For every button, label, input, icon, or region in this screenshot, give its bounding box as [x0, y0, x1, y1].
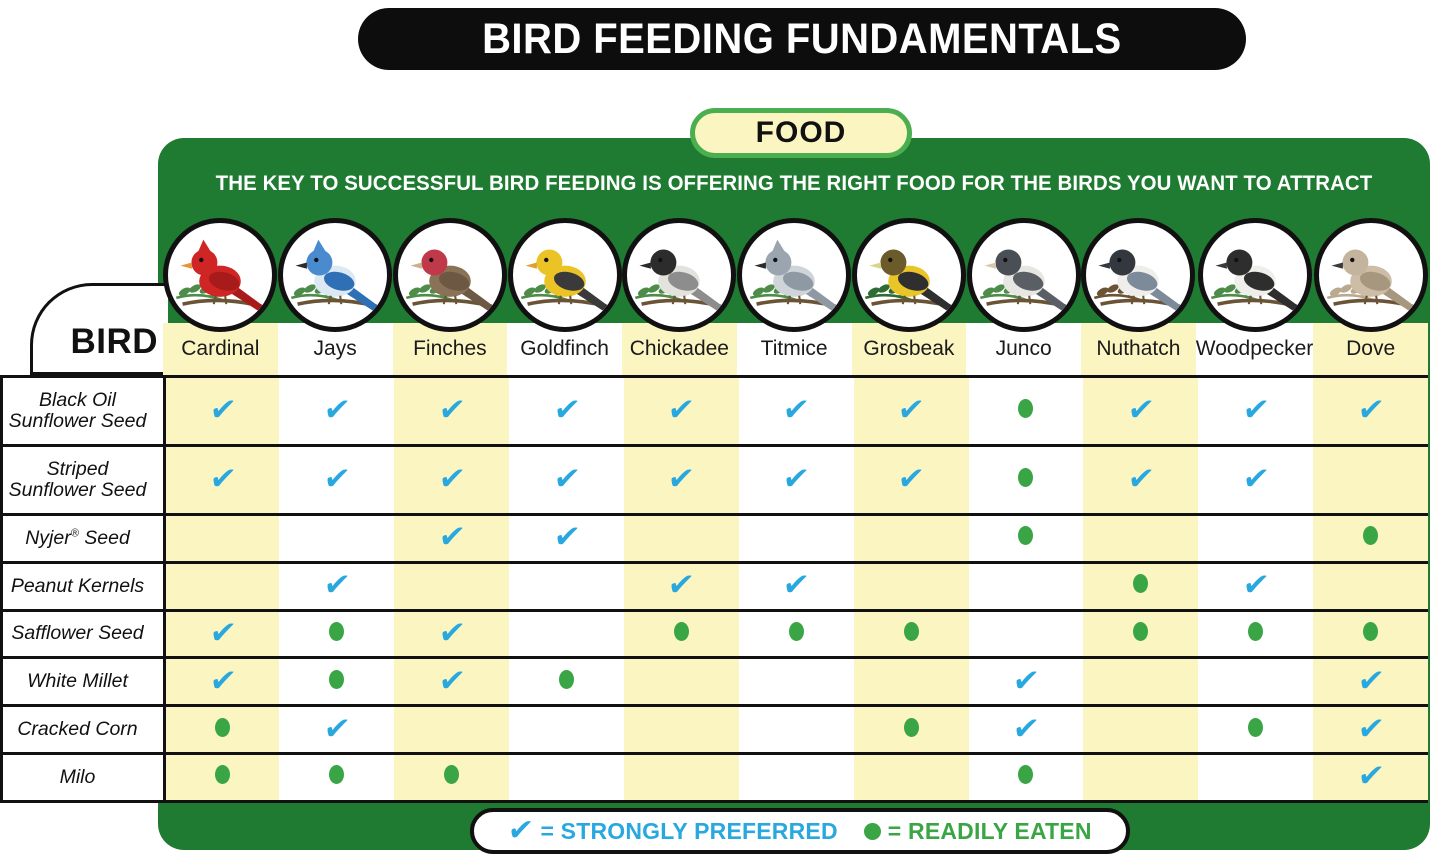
dot-icon — [1018, 468, 1033, 487]
check-icon: ✔ — [208, 397, 237, 423]
dot-icon — [1248, 718, 1263, 737]
empty-mark — [911, 541, 912, 542]
dot-icon — [1018, 526, 1033, 545]
cell-white-millet-nuthatch — [1083, 658, 1198, 706]
cell-nyjer-seed-goldfinch: ✔ — [509, 515, 624, 563]
empty-mark — [1140, 541, 1141, 542]
empty-mark — [1140, 780, 1141, 781]
check-icon: ✔ — [322, 397, 351, 423]
cell-black-oil-sunflower-seed-titmice: ✔ — [739, 377, 854, 446]
dot-icon — [1133, 574, 1148, 593]
dot-icon — [1018, 765, 1033, 784]
dot-icon — [215, 765, 230, 784]
empty-mark — [1025, 637, 1026, 638]
legend-label-strongly-preferred: = STRONGLY PREFERRED — [540, 818, 837, 845]
cell-striped-sunflower-seed-finches: ✔ — [394, 446, 509, 515]
empty-mark — [1370, 483, 1371, 484]
cell-nyjer-seed-woodpecker — [1198, 515, 1313, 563]
cell-cracked-corn-finches — [394, 706, 509, 754]
dot-icon — [1363, 526, 1378, 545]
cell-safflower-seed-titmice — [739, 610, 854, 658]
cell-peanut-kernels-finches — [394, 562, 509, 610]
evening-grosbeak-portrait-icon — [852, 218, 966, 332]
check-icon: ✔ — [437, 397, 466, 423]
cell-safflower-seed-grosbeak — [854, 610, 969, 658]
cell-striped-sunflower-seed-nuthatch: ✔ — [1083, 446, 1198, 515]
cell-black-oil-sunflower-seed-jays: ✔ — [279, 377, 394, 446]
cell-milo-junco — [969, 753, 1084, 801]
row-header-label: White Millet — [3, 671, 152, 692]
check-icon: ✔ — [208, 620, 237, 646]
cell-cracked-corn-nuthatch — [1083, 706, 1198, 754]
column-header-dove: Dove — [1313, 218, 1428, 375]
check-icon: ✔ — [437, 668, 466, 694]
dot-icon — [329, 765, 344, 784]
row-header-label: Sunflower Seed — [3, 480, 152, 501]
empty-mark — [1370, 589, 1371, 590]
northern-cardinal-portrait-icon — [163, 218, 277, 332]
empty-mark — [451, 733, 452, 734]
check-icon: ✔ — [552, 397, 581, 423]
axis-label-bird-text: BIRD — [70, 322, 168, 372]
check-icon: ✔ — [322, 716, 351, 742]
dot-icon — [329, 622, 344, 641]
page-title: BIRD FEEDING FUNDAMENTALS — [482, 15, 1122, 64]
empty-mark — [911, 589, 912, 590]
cell-safflower-seed-jays — [279, 610, 394, 658]
axis-label-bird: BIRD — [30, 283, 168, 375]
check-icon: ✔ — [437, 620, 466, 646]
cell-striped-sunflower-seed-titmice: ✔ — [739, 446, 854, 515]
empty-mark — [1140, 685, 1141, 686]
title-banner: BIRD FEEDING FUNDAMENTALS — [358, 8, 1246, 70]
check-icon: ✔ — [1011, 668, 1040, 694]
column-header-nuthatch: Nuthatch — [1081, 218, 1196, 375]
empty-mark — [681, 733, 682, 734]
check-icon: ✔ — [667, 572, 696, 598]
check-icon: ✔ — [1241, 572, 1270, 598]
cell-safflower-seed-finches: ✔ — [394, 610, 509, 658]
legend-item-readily-eaten: = READILY EATEN — [864, 818, 1092, 845]
check-icon: ✔ — [1356, 763, 1385, 789]
row-header-black-oil-sunflower-seed: Black OilSunflower Seed — [2, 377, 165, 446]
table-row: Milo✔ — [2, 753, 1429, 801]
chart-subtitle: THE KEY TO SUCCESSFUL BIRD FEEDING IS OF… — [190, 171, 1398, 196]
dot-icon — [904, 718, 919, 737]
column-header-label: Chickadee — [630, 337, 729, 361]
column-header-label: Cardinal — [181, 337, 259, 361]
downy-woodpecker-portrait-icon — [1198, 218, 1312, 332]
cell-peanut-kernels-dove — [1313, 562, 1428, 610]
dot-icon — [559, 670, 574, 689]
empty-mark — [1140, 733, 1141, 734]
row-header-label: Milo — [3, 767, 152, 788]
cell-cracked-corn-grosbeak — [854, 706, 969, 754]
cell-striped-sunflower-seed-chickadee: ✔ — [624, 446, 739, 515]
dot-icon — [329, 670, 344, 689]
cell-black-oil-sunflower-seed-goldfinch: ✔ — [509, 377, 624, 446]
check-icon: ✔ — [1356, 668, 1385, 694]
dot-icon — [904, 622, 919, 641]
cell-white-millet-junco: ✔ — [969, 658, 1084, 706]
empty-mark — [911, 685, 912, 686]
check-icon: ✔ — [322, 466, 351, 492]
row-header-white-millet: White Millet — [2, 658, 165, 706]
column-header-grosbeak: Grosbeak — [852, 218, 967, 375]
row-header-nyjer-seed: Nyjer® Seed — [2, 515, 165, 563]
cell-milo-chickadee — [624, 753, 739, 801]
empty-mark — [336, 541, 337, 542]
check-icon: ✔ — [782, 397, 811, 423]
check-icon: ✔ — [782, 572, 811, 598]
cell-nyjer-seed-dove — [1313, 515, 1428, 563]
cell-cracked-corn-chickadee — [624, 706, 739, 754]
column-header-finches: Finches — [393, 218, 508, 375]
empty-mark — [566, 733, 567, 734]
check-icon: ✔ — [437, 524, 466, 550]
column-header-label: Woodpecker — [1196, 337, 1314, 361]
table-row: Cracked Corn✔✔✔ — [2, 706, 1429, 754]
cell-cracked-corn-goldfinch — [509, 706, 624, 754]
check-icon: ✔ — [1241, 466, 1270, 492]
section-badge-food: FOOD — [690, 108, 912, 158]
cell-peanut-kernels-woodpecker: ✔ — [1198, 562, 1313, 610]
row-header-cracked-corn: Cracked Corn — [2, 706, 165, 754]
dot-icon — [864, 823, 881, 840]
row-header-label: Striped — [3, 459, 152, 480]
cell-safflower-seed-woodpecker — [1198, 610, 1313, 658]
cell-cracked-corn-junco: ✔ — [969, 706, 1084, 754]
cell-cracked-corn-woodpecker — [1198, 706, 1313, 754]
cell-white-millet-grosbeak — [854, 658, 969, 706]
table-row: Black OilSunflower Seed✔✔✔✔✔✔✔✔✔✔ — [2, 377, 1429, 446]
column-header-label: Goldfinch — [520, 337, 609, 361]
cell-black-oil-sunflower-seed-junco — [969, 377, 1084, 446]
empty-mark — [796, 541, 797, 542]
cell-black-oil-sunflower-seed-woodpecker: ✔ — [1198, 377, 1313, 446]
row-header-label: Nyjer® Seed — [3, 528, 152, 549]
check-icon: ✔ — [896, 397, 925, 423]
cell-cracked-corn-jays: ✔ — [279, 706, 394, 754]
check-icon: ✔ — [1356, 397, 1385, 423]
dot-icon — [215, 718, 230, 737]
cell-safflower-seed-chickadee — [624, 610, 739, 658]
cell-white-millet-dove: ✔ — [1313, 658, 1428, 706]
cell-striped-sunflower-seed-cardinal: ✔ — [165, 446, 280, 515]
check-icon: ✔ — [1126, 466, 1155, 492]
cell-peanut-kernels-grosbeak — [854, 562, 969, 610]
black-capped-chickadee-portrait-icon — [622, 218, 736, 332]
cell-peanut-kernels-chickadee: ✔ — [624, 562, 739, 610]
column-header-label: Nuthatch — [1096, 337, 1180, 361]
column-header-label: Jays — [314, 337, 357, 361]
dot-icon — [674, 622, 689, 641]
empty-mark — [566, 637, 567, 638]
house-finch-portrait-icon — [393, 218, 507, 332]
check-icon: ✔ — [896, 466, 925, 492]
dot-icon — [1248, 622, 1263, 641]
check-icon: ✔ — [322, 572, 351, 598]
check-icon: ✔ — [552, 466, 581, 492]
check-icon: ✔ — [667, 466, 696, 492]
cell-striped-sunflower-seed-jays: ✔ — [279, 446, 394, 515]
cell-nyjer-seed-jays — [279, 515, 394, 563]
empty-mark — [681, 780, 682, 781]
cell-black-oil-sunflower-seed-cardinal: ✔ — [165, 377, 280, 446]
cell-milo-nuthatch — [1083, 753, 1198, 801]
empty-mark — [796, 733, 797, 734]
cell-milo-jays — [279, 753, 394, 801]
cell-white-millet-jays — [279, 658, 394, 706]
empty-mark — [566, 589, 567, 590]
empty-mark — [1255, 541, 1256, 542]
white-breasted-nuthatch-portrait-icon — [1081, 218, 1195, 332]
column-header-label: Grosbeak — [863, 337, 954, 361]
empty-mark — [911, 780, 912, 781]
cell-striped-sunflower-seed-woodpecker: ✔ — [1198, 446, 1313, 515]
cell-white-millet-titmice — [739, 658, 854, 706]
dot-icon — [789, 622, 804, 641]
empty-mark — [222, 541, 223, 542]
cell-milo-grosbeak — [854, 753, 969, 801]
check-icon: ✔ — [208, 668, 237, 694]
section-badge-label: FOOD — [756, 116, 847, 150]
check-icon: ✔ — [1356, 716, 1385, 742]
cell-cracked-corn-cardinal — [165, 706, 280, 754]
check-icon: ✔ — [782, 466, 811, 492]
cell-cracked-corn-titmice — [739, 706, 854, 754]
column-header-cardinal: Cardinal — [163, 218, 278, 375]
row-header-label: Sunflower Seed — [3, 411, 152, 432]
table-row: StripedSunflower Seed✔✔✔✔✔✔✔✔✔ — [2, 446, 1429, 515]
legend-label-readily-eaten: = READILY EATEN — [888, 818, 1092, 845]
cell-peanut-kernels-titmice: ✔ — [739, 562, 854, 610]
cell-black-oil-sunflower-seed-dove: ✔ — [1313, 377, 1428, 446]
empty-mark — [681, 685, 682, 686]
empty-mark — [1255, 685, 1256, 686]
row-header-label: Peanut Kernels — [3, 576, 152, 597]
cell-nyjer-seed-grosbeak — [854, 515, 969, 563]
row-header-peanut-kernels: Peanut Kernels — [2, 562, 165, 610]
empty-mark — [566, 780, 567, 781]
cell-cracked-corn-dove: ✔ — [1313, 706, 1428, 754]
american-goldfinch-portrait-icon — [508, 218, 622, 332]
column-header-chickadee: Chickadee — [622, 218, 737, 375]
table-row: White Millet✔✔✔✔ — [2, 658, 1429, 706]
cell-safflower-seed-cardinal: ✔ — [165, 610, 280, 658]
cell-striped-sunflower-seed-goldfinch: ✔ — [509, 446, 624, 515]
dot-icon — [1133, 622, 1148, 641]
empty-mark — [1025, 589, 1026, 590]
dot-icon — [444, 765, 459, 784]
cell-white-millet-cardinal: ✔ — [165, 658, 280, 706]
cell-black-oil-sunflower-seed-finches: ✔ — [394, 377, 509, 446]
dark-eyed-junco-portrait-icon — [967, 218, 1081, 332]
cell-safflower-seed-dove — [1313, 610, 1428, 658]
cell-safflower-seed-nuthatch — [1083, 610, 1198, 658]
cell-peanut-kernels-junco — [969, 562, 1084, 610]
check-icon: ✔ — [208, 466, 237, 492]
legend-item-strongly-preferred: ✔ = STRONGLY PREFERRED — [508, 816, 837, 846]
cell-striped-sunflower-seed-dove — [1313, 446, 1428, 515]
column-header-strip: CardinalJaysFinchesGoldfinchChickadeeTit… — [163, 218, 1428, 375]
dot-icon — [1363, 622, 1378, 641]
cell-nyjer-seed-titmice — [739, 515, 854, 563]
column-header-titmice: Titmice — [737, 218, 852, 375]
cell-milo-dove: ✔ — [1313, 753, 1428, 801]
cell-peanut-kernels-cardinal — [165, 562, 280, 610]
cell-safflower-seed-goldfinch — [509, 610, 624, 658]
cell-milo-cardinal — [165, 753, 280, 801]
empty-mark — [222, 589, 223, 590]
column-header-woodpecker: Woodpecker — [1196, 218, 1314, 375]
row-header-label: Cracked Corn — [3, 719, 152, 740]
cell-striped-sunflower-seed-junco — [969, 446, 1084, 515]
column-header-junco: Junco — [966, 218, 1081, 375]
column-header-label: Finches — [413, 337, 487, 361]
cell-nyjer-seed-chickadee — [624, 515, 739, 563]
feeding-matrix-table: Black OilSunflower Seed✔✔✔✔✔✔✔✔✔✔Striped… — [0, 375, 1428, 803]
column-header-label: Junco — [996, 337, 1052, 361]
cell-milo-woodpecker — [1198, 753, 1313, 801]
cell-nyjer-seed-nuthatch — [1083, 515, 1198, 563]
cell-black-oil-sunflower-seed-nuthatch: ✔ — [1083, 377, 1198, 446]
cell-nyjer-seed-finches: ✔ — [394, 515, 509, 563]
cell-milo-goldfinch — [509, 753, 624, 801]
tufted-titmouse-portrait-icon — [737, 218, 851, 332]
empty-mark — [451, 589, 452, 590]
row-header-label: Black Oil — [3, 390, 152, 411]
dot-icon — [1018, 399, 1033, 418]
empty-mark — [681, 541, 682, 542]
cell-peanut-kernels-jays: ✔ — [279, 562, 394, 610]
column-header-jays: Jays — [278, 218, 393, 375]
table-row: Nyjer® Seed✔✔ — [2, 515, 1429, 563]
check-icon: ✔ — [1241, 397, 1270, 423]
cell-striped-sunflower-seed-grosbeak: ✔ — [854, 446, 969, 515]
blue-jay-portrait-icon — [278, 218, 392, 332]
cell-white-millet-chickadee — [624, 658, 739, 706]
empty-mark — [796, 780, 797, 781]
cell-white-millet-finches: ✔ — [394, 658, 509, 706]
check-icon: ✔ — [1126, 397, 1155, 423]
mourning-dove-portrait-icon — [1314, 218, 1428, 332]
cell-black-oil-sunflower-seed-chickadee: ✔ — [624, 377, 739, 446]
check-icon: ✔ — [437, 466, 466, 492]
cell-milo-finches — [394, 753, 509, 801]
cell-black-oil-sunflower-seed-grosbeak: ✔ — [854, 377, 969, 446]
row-header-milo: Milo — [2, 753, 165, 801]
cell-nyjer-seed-junco — [969, 515, 1084, 563]
table-row: Safflower Seed✔✔ — [2, 610, 1429, 658]
table-row: Peanut Kernels✔✔✔✔ — [2, 562, 1429, 610]
check-icon: ✔ — [506, 816, 535, 846]
cell-nyjer-seed-cardinal — [165, 515, 280, 563]
check-icon: ✔ — [552, 524, 581, 550]
row-header-safflower-seed: Safflower Seed — [2, 610, 165, 658]
check-icon: ✔ — [1011, 716, 1040, 742]
empty-mark — [796, 685, 797, 686]
cell-safflower-seed-junco — [969, 610, 1084, 658]
row-header-striped-sunflower-seed: StripedSunflower Seed — [2, 446, 165, 515]
empty-mark — [1255, 780, 1256, 781]
column-header-label: Dove — [1346, 337, 1395, 361]
legend: ✔ = STRONGLY PREFERRED = READILY EATEN — [470, 808, 1130, 854]
row-header-label: Safflower Seed — [3, 623, 152, 644]
cell-milo-titmice — [739, 753, 854, 801]
column-header-label: Titmice — [761, 337, 828, 361]
cell-white-millet-woodpecker — [1198, 658, 1313, 706]
cell-white-millet-goldfinch — [509, 658, 624, 706]
check-icon: ✔ — [667, 397, 696, 423]
cell-peanut-kernels-nuthatch — [1083, 562, 1198, 610]
cell-peanut-kernels-goldfinch — [509, 562, 624, 610]
column-header-goldfinch: Goldfinch — [507, 218, 622, 375]
